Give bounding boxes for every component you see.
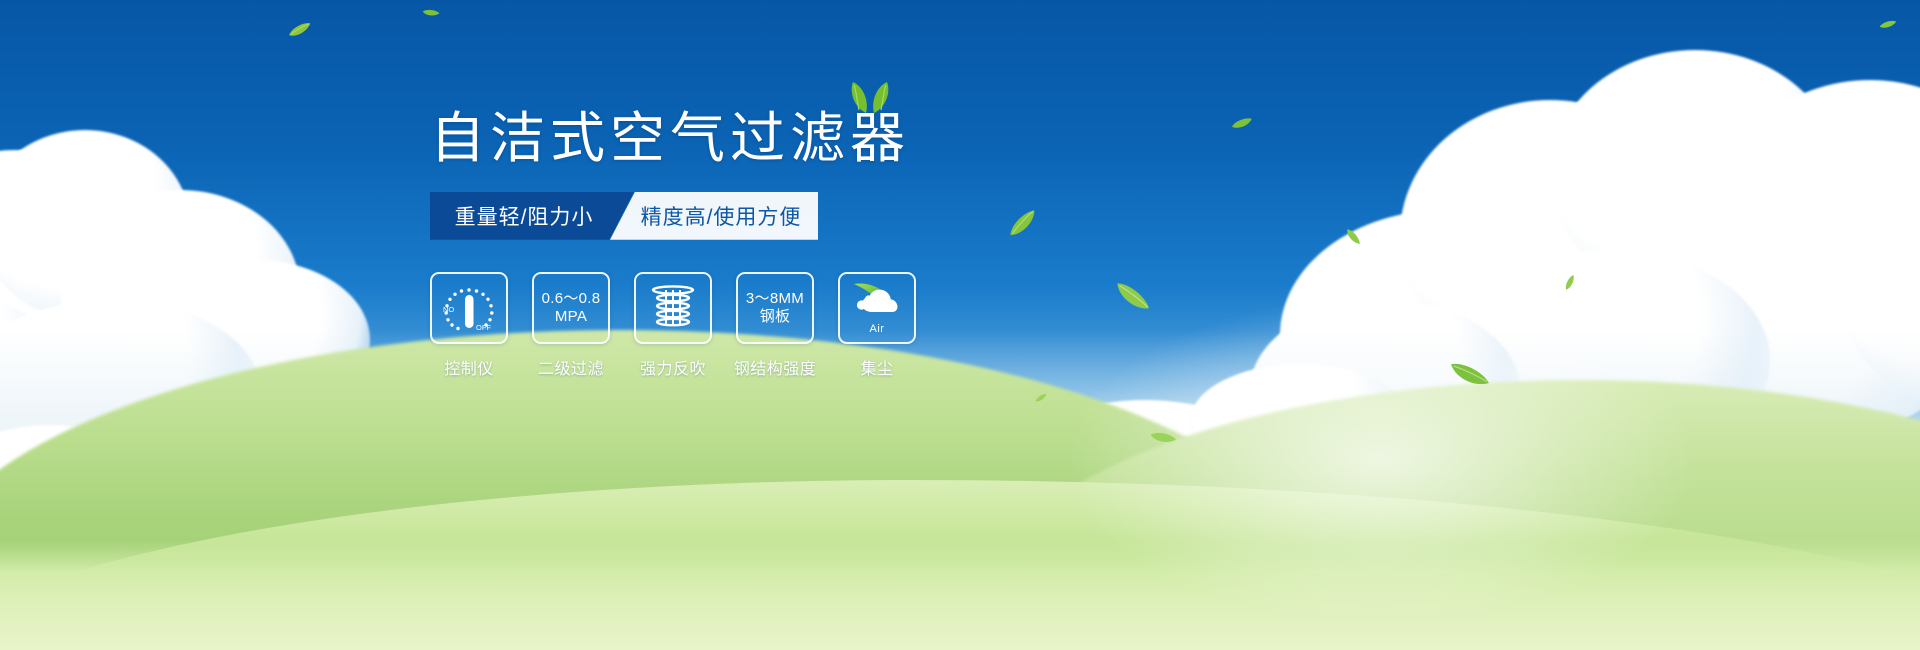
floating-leaf-icon xyxy=(1878,19,1897,30)
feature-pressure-line2: MPA xyxy=(555,308,587,326)
floating-leaf-icon xyxy=(421,7,440,20)
feature-steel-box: 3～8MM 钢板 xyxy=(736,272,814,344)
floating-leaf-icon xyxy=(1562,273,1579,292)
control-dial-icon: NO OFF xyxy=(440,280,498,336)
feature-steel-line2: 钢板 xyxy=(760,308,791,326)
floating-leaf-icon xyxy=(1230,116,1254,131)
feature-pressure-line1: 0.6～0.8 xyxy=(542,290,601,308)
dial-on-label: NO xyxy=(443,305,454,314)
hero-banner: 自洁式空气过滤器 重量轻/阻力小 精度高/使用方便 xyxy=(0,0,1920,650)
page-title-row: 自洁式空气过滤器 xyxy=(430,110,910,168)
feature-dust-caption: Air xyxy=(870,323,885,335)
badge-precision[interactable]: 精度高/使用方便 xyxy=(610,192,818,240)
feature-blowback-box xyxy=(634,272,712,344)
floating-leaf-icon xyxy=(1344,226,1363,248)
badge-lightweight[interactable]: 重量轻/阻力小 xyxy=(430,192,634,240)
banner-content: 自洁式空气过滤器 重量轻/阻力小 精度高/使用方便 xyxy=(430,110,1050,379)
feature-blowback-label: 强力反吹 xyxy=(640,355,706,379)
floating-leaf-icon xyxy=(286,20,314,41)
feature-pressure[interactable]: 0.6～0.8 MPA 二级过滤 xyxy=(532,272,610,379)
feature-list: NO OFF 控制仪 0.6～0.8 MPA 二级过滤 xyxy=(430,272,1050,379)
sprout-leaves-icon xyxy=(844,80,896,119)
dial-off-label: OFF xyxy=(476,323,491,332)
badge-lightweight-label: 重量轻/阻力小 xyxy=(455,201,594,231)
grass-field xyxy=(0,380,1920,650)
feature-steel[interactable]: 3～8MM 钢板 钢结构强度 xyxy=(736,272,814,379)
feature-pressure-label: 二级过滤 xyxy=(538,355,604,379)
cloud-right xyxy=(1220,30,1920,430)
badge-precision-label: 精度高/使用方便 xyxy=(641,201,802,231)
page-title: 自洁式空气过滤器 xyxy=(430,110,910,168)
feature-control-dial-box: NO OFF xyxy=(430,272,508,344)
feature-dust[interactable]: Air 集尘 xyxy=(838,272,916,379)
feature-blowback[interactable]: 强力反吹 xyxy=(634,272,712,379)
feature-steel-line1: 3～8MM xyxy=(746,290,804,308)
feature-control-dial[interactable]: NO OFF 控制仪 xyxy=(430,272,508,379)
feature-pressure-box: 0.6～0.8 MPA xyxy=(532,272,610,344)
coil-blowback-icon xyxy=(648,282,698,334)
floating-leaf-icon xyxy=(1111,275,1154,318)
feature-dust-label: 集尘 xyxy=(860,355,893,379)
dust-cloud-icon xyxy=(848,280,906,322)
feature-dust-box: Air xyxy=(838,272,916,344)
feature-steel-label: 钢结构强度 xyxy=(734,355,817,379)
grass-foreground xyxy=(0,540,1920,650)
subtitle-badges: 重量轻/阻力小 精度高/使用方便 xyxy=(430,192,818,240)
feature-control-dial-label: 控制仪 xyxy=(444,355,494,379)
